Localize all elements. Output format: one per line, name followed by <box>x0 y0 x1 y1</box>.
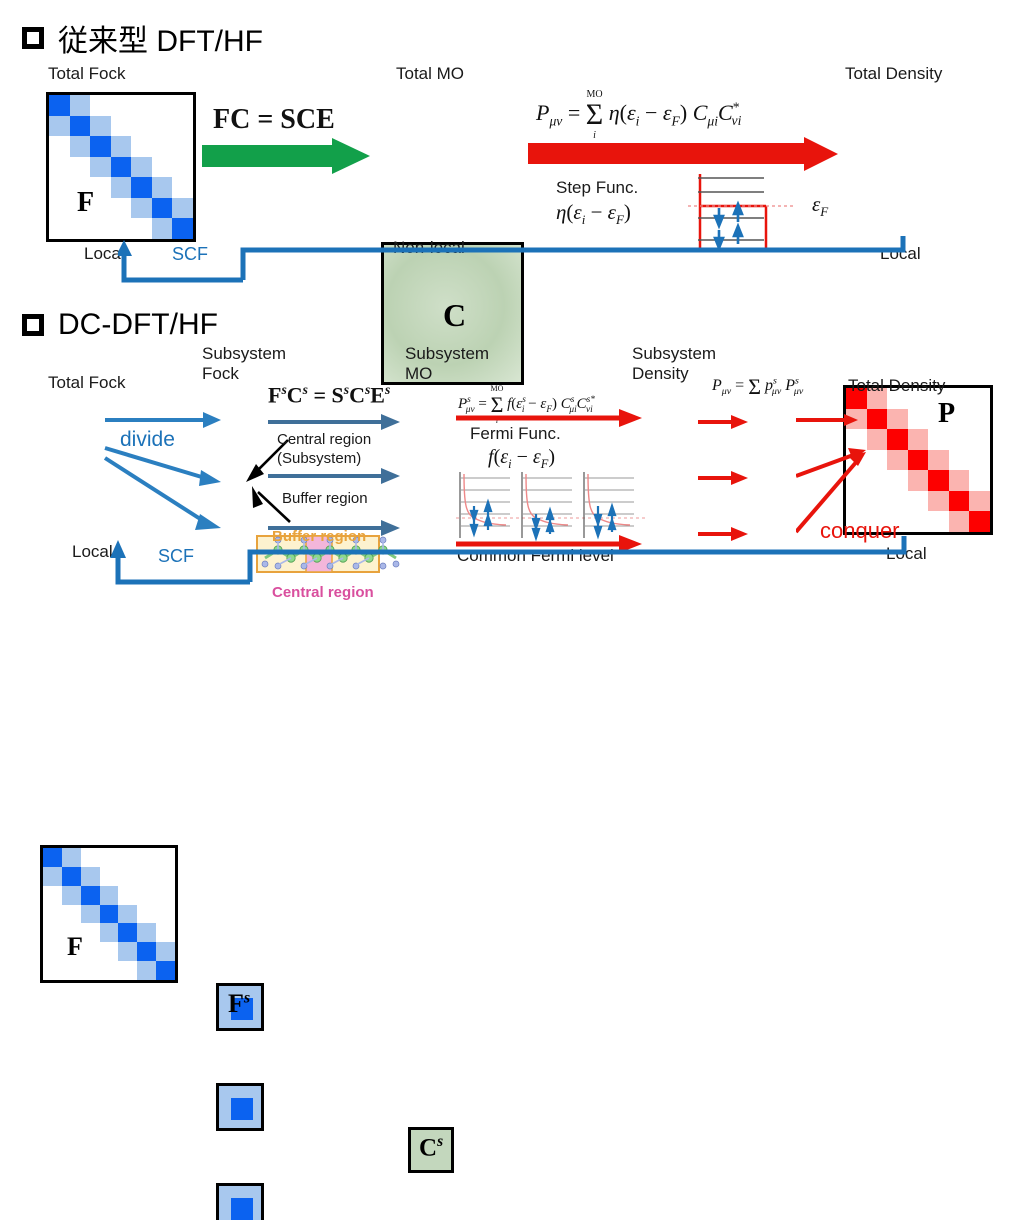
matrix-cell <box>90 218 111 239</box>
matrix-cell <box>131 198 152 219</box>
matrix-cell <box>156 905 175 924</box>
top-scf-loop-arrow <box>118 236 908 284</box>
fock-matrix-cells-2 <box>43 848 175 980</box>
matrix-cell <box>969 511 990 532</box>
matrix-cell <box>928 429 949 450</box>
matrix-cell <box>137 886 156 905</box>
sum-upper-limit: MO <box>586 89 602 100</box>
matrix-cell <box>118 905 137 924</box>
matrix-cell <box>49 177 70 198</box>
top-eigen-equation: FC = SCE <box>213 104 335 136</box>
matrix-cell <box>100 905 119 924</box>
matrix-cell <box>152 95 173 116</box>
top-section-heading: 従来型 DFT/HF <box>22 16 263 60</box>
top-density-equation: Pμν = Σ MO i η(εi − εF) CμiC*νi <box>536 94 741 129</box>
matrix-cell <box>49 95 70 116</box>
matrix-cell <box>81 923 100 942</box>
matrix-cell <box>172 157 193 178</box>
matrix-cell <box>137 923 156 942</box>
matrix-cell <box>100 886 119 905</box>
matrix-cell <box>100 961 119 980</box>
matrix-cell <box>111 136 132 157</box>
matrix-cell <box>111 116 132 137</box>
matrix-cell <box>131 177 152 198</box>
matrix-cell <box>156 923 175 942</box>
density-matrix-letter: P <box>938 398 955 430</box>
matrix-cell <box>152 177 173 198</box>
bottom-total-fock-matrix: F <box>40 845 178 983</box>
matrix-cell <box>81 942 100 961</box>
matrix-cell <box>70 136 91 157</box>
matrix-cell <box>949 429 970 450</box>
matrix-cell <box>111 177 132 198</box>
bottom-scf-loop-arrow <box>110 536 910 588</box>
matrix-cell <box>118 923 137 942</box>
matrix-cell <box>949 511 970 532</box>
matrix-cell <box>62 886 81 905</box>
total-density-equation: Pμν = Σ psμν Psμν <box>712 370 803 397</box>
top-step-func-equation: η(εi − εF) <box>556 200 631 228</box>
top-section-title: 従来型 DFT/HF <box>58 16 263 60</box>
top-fermi-level-symbol: εF <box>812 192 828 220</box>
subsystem-fock-letter-sup: s <box>244 989 250 1006</box>
matrix-cell <box>152 198 173 219</box>
matrix-cell <box>100 942 119 961</box>
fock-matrix-cells <box>49 95 193 239</box>
matrix-cell <box>156 867 175 886</box>
matrix-cell <box>172 95 193 116</box>
matrix-cell <box>131 95 152 116</box>
sub-sum-upper: MO <box>491 384 504 393</box>
matrix-cell <box>43 961 62 980</box>
subsystem-fock-letter-1: Fs <box>228 989 250 1019</box>
matrix-cell <box>62 867 81 886</box>
subsystem-fock-inner-3 <box>231 1198 253 1220</box>
fock-matrix-letter: F <box>77 187 94 219</box>
matrix-cell <box>70 218 91 239</box>
matrix-cell <box>49 198 70 219</box>
fock-matrix-letter-2: F <box>67 932 83 962</box>
top-step-func-label: Step Func. <box>556 178 638 198</box>
subsystem-fock-line1: Subsystem Fock <box>202 344 292 384</box>
matrix-cell <box>172 116 193 137</box>
matrix-cell <box>172 198 193 219</box>
bullet-square-icon <box>22 27 44 49</box>
matrix-cell <box>156 886 175 905</box>
matrix-cell <box>43 923 62 942</box>
matrix-cell <box>81 905 100 924</box>
bottom-subsystem-fock-label: Subsystem Fock <box>202 344 292 384</box>
top-total-mo-label: Total MO <box>396 64 464 84</box>
matrix-cell <box>49 136 70 157</box>
bottom-section-title: DC-DFT/HF <box>58 308 218 342</box>
matrix-cell <box>62 848 81 867</box>
matrix-cell <box>111 95 132 116</box>
top-total-density-label: Total Density <box>845 64 942 84</box>
matrix-cell <box>90 95 111 116</box>
bottom-section-heading: DC-DFT/HF <box>22 308 218 342</box>
fermi-func-equation: f(εi − εF) <box>488 446 555 472</box>
matrix-cell <box>70 116 91 137</box>
matrix-cell <box>928 450 949 471</box>
matrix-cell <box>43 886 62 905</box>
mo-matrix-letter: C <box>443 297 466 334</box>
matrix-cell <box>70 95 91 116</box>
matrix-cell <box>137 867 156 886</box>
matrix-cell <box>90 136 111 157</box>
matrix-cell <box>100 867 119 886</box>
matrix-cell <box>118 848 137 867</box>
matrix-cell <box>111 157 132 178</box>
subsystem-mo-line: Subsystem MO <box>405 344 485 384</box>
matrix-cell <box>949 470 970 491</box>
matrix-cell <box>49 157 70 178</box>
matrix-cell <box>49 116 70 137</box>
matrix-cell <box>969 409 990 430</box>
matrix-cell <box>81 886 100 905</box>
fermi-func-label: Fermi Func. <box>470 424 561 444</box>
matrix-cell <box>118 867 137 886</box>
matrix-cell <box>43 867 62 886</box>
matrix-cell <box>137 961 156 980</box>
matrix-cell <box>43 905 62 924</box>
top-red-arrow <box>528 137 840 171</box>
matrix-cell <box>969 491 990 512</box>
subsystem-fock-box-1: Fs <box>216 983 264 1031</box>
matrix-cell <box>81 961 100 980</box>
subsystem-mo-letter-sup: s <box>437 1133 443 1150</box>
top-green-arrow <box>202 138 370 174</box>
matrix-cell <box>100 848 119 867</box>
matrix-cell <box>131 136 152 157</box>
matrix-cell <box>90 116 111 137</box>
matrix-cell <box>49 218 70 239</box>
bottom-total-fock-label: Total Fock <box>48 373 125 393</box>
bullet-square-icon-2 <box>22 314 44 336</box>
matrix-cell <box>152 157 173 178</box>
matrix-cell <box>969 470 990 491</box>
matrix-cell <box>969 450 990 471</box>
matrix-cell <box>62 905 81 924</box>
matrix-cell <box>81 848 100 867</box>
matrix-cell <box>949 491 970 512</box>
matrix-cell <box>43 942 62 961</box>
matrix-cell <box>156 848 175 867</box>
matrix-cell <box>949 450 970 471</box>
matrix-cell <box>172 177 193 198</box>
matrix-cell <box>928 491 949 512</box>
matrix-cell <box>131 116 152 137</box>
matrix-cell <box>131 157 152 178</box>
subsystem-fock-box-3 <box>216 1183 264 1220</box>
subsystem-fock-inner-2 <box>231 1098 253 1120</box>
fermi-function-panels <box>456 470 646 542</box>
subsystem-mo-letter: Cs <box>419 1133 443 1162</box>
matrix-cell <box>172 136 193 157</box>
matrix-cell <box>152 116 173 137</box>
matrix-cell <box>969 429 990 450</box>
bottom-total-density-label: Total Density <box>848 376 945 396</box>
matrix-cell <box>81 867 100 886</box>
divide-arrows <box>95 400 235 530</box>
bottom-local-left-label: Local <box>72 542 113 562</box>
matrix-cell <box>62 961 81 980</box>
bottom-scf-label: SCF <box>158 546 194 567</box>
matrix-cell <box>137 848 156 867</box>
top-scf-label: SCF <box>172 244 208 265</box>
matrix-cell <box>118 961 137 980</box>
matrix-cell <box>928 470 949 491</box>
matrix-cell <box>111 198 132 219</box>
matrix-cell <box>118 942 137 961</box>
bottom-subsystem-mo-label: Subsystem MO <box>405 344 485 384</box>
matrix-cell <box>90 157 111 178</box>
matrix-cell <box>70 157 91 178</box>
matrix-cell <box>137 905 156 924</box>
subsystem-fock-box-2 <box>216 1083 264 1131</box>
matrix-cell <box>118 886 137 905</box>
divide-label: divide <box>120 428 175 452</box>
subsystem-fock-letter-char: F <box>228 989 244 1018</box>
top-total-fock-matrix: F <box>46 92 196 242</box>
matrix-cell <box>100 923 119 942</box>
matrix-cell <box>137 942 156 961</box>
subsystem-mo-letter-char: C <box>419 1134 437 1161</box>
subsystem-fock-to-mo-arrows <box>268 404 408 556</box>
subsystem-mo-box-1: Cs <box>408 1127 454 1173</box>
matrix-cell <box>43 848 62 867</box>
matrix-cell <box>156 942 175 961</box>
matrix-cell <box>928 511 949 532</box>
matrix-cell <box>152 136 173 157</box>
matrix-cell <box>156 961 175 980</box>
matrix-cell <box>969 388 990 409</box>
top-total-fock-label: Total Fock <box>48 64 125 84</box>
